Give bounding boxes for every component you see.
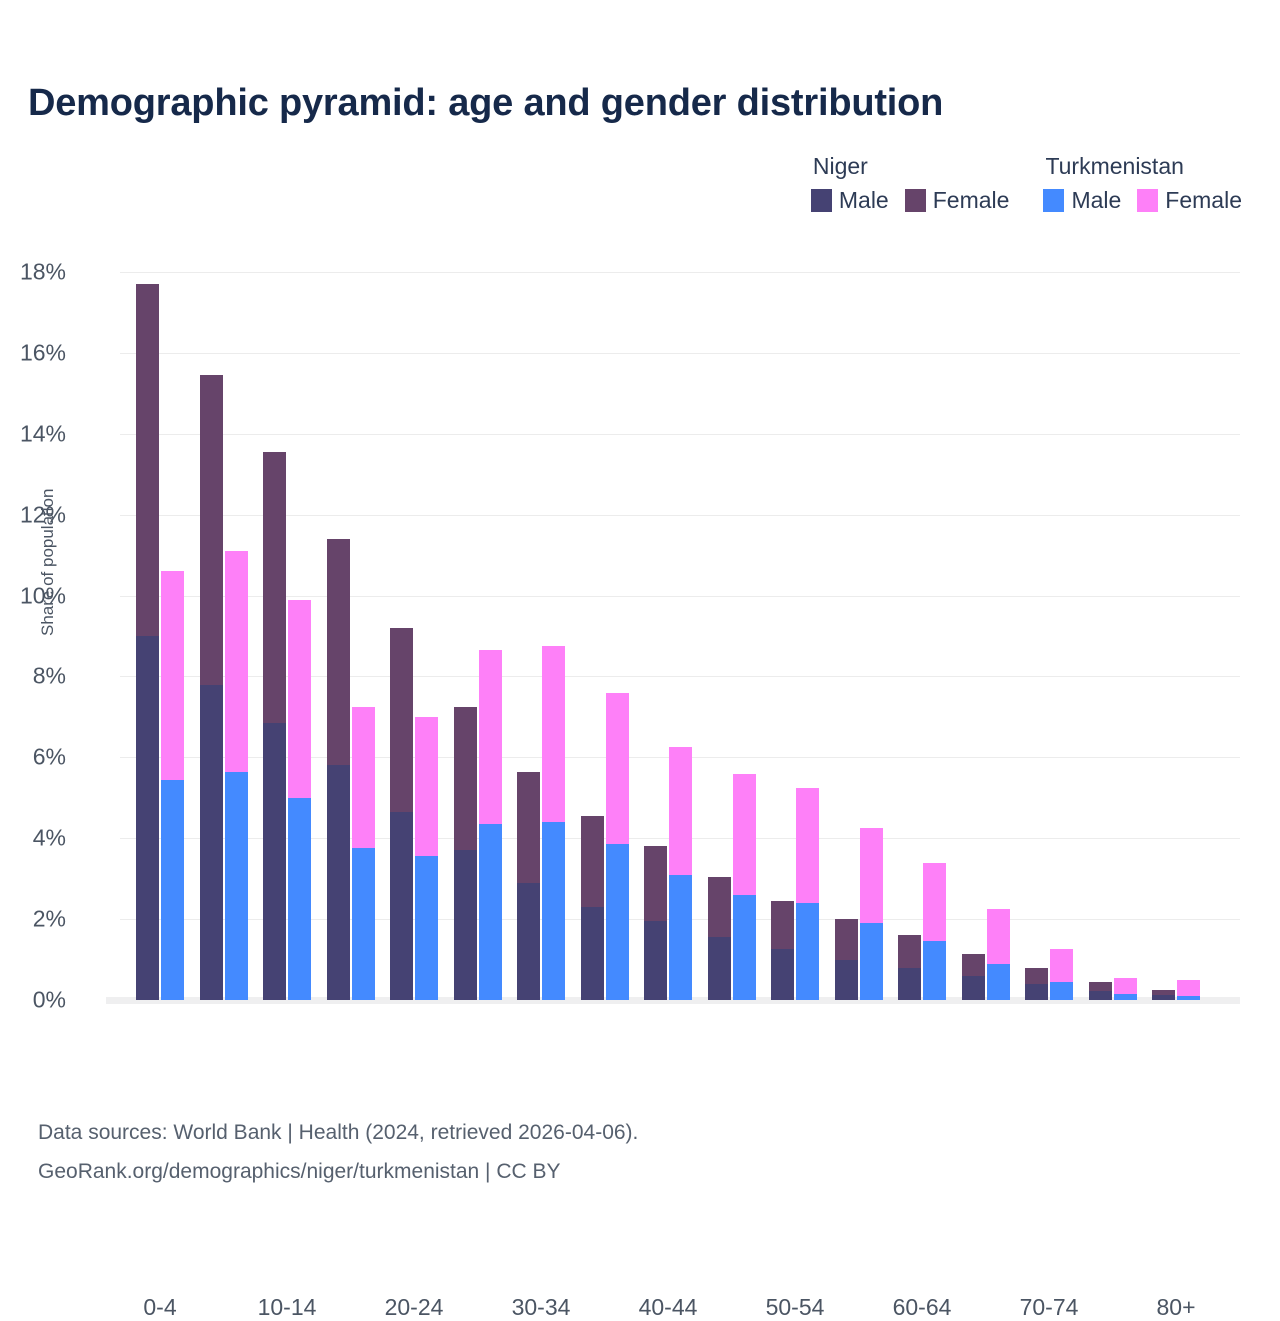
bar-segment-niger-female[interactable] bbox=[581, 816, 604, 907]
footer-data-sources: Data sources: World Bank | Health (2024,… bbox=[38, 1113, 638, 1152]
y-tick-label: 16% bbox=[0, 339, 66, 366]
y-tick-label: 0% bbox=[0, 987, 66, 1014]
bar-group bbox=[835, 272, 883, 1000]
bar-turkm-40-44[interactable] bbox=[669, 747, 692, 1000]
bar-segment-turkmenistan-female[interactable] bbox=[225, 551, 248, 771]
bar-segment-turkmenistan-female[interactable] bbox=[1050, 949, 1073, 981]
bar-segment-niger-male[interactable] bbox=[835, 960, 858, 1000]
bar-segment-turkmenistan-female[interactable] bbox=[796, 788, 819, 903]
x-tick-label-30-34: 30-34 bbox=[512, 1294, 571, 1321]
bar-segment-niger-male[interactable] bbox=[581, 907, 604, 1000]
bar-segment-niger-male[interactable] bbox=[962, 976, 985, 1000]
bar-niger-60-64[interactable] bbox=[898, 935, 921, 1000]
bar-niger-75-79[interactable] bbox=[1089, 982, 1112, 1000]
bar-segment-turkmenistan-male[interactable] bbox=[479, 824, 502, 1000]
legend-item-niger-male[interactable]: Male bbox=[811, 189, 889, 212]
bar-segment-turkmenistan-female[interactable] bbox=[479, 650, 502, 824]
bar-group bbox=[708, 272, 756, 1000]
bar-segment-niger-female[interactable] bbox=[517, 772, 540, 883]
bar-segment-turkmenistan-male[interactable] bbox=[1177, 996, 1200, 1000]
bar-segment-turkmenistan-female[interactable] bbox=[669, 747, 692, 874]
bar-niger-5-9[interactable] bbox=[200, 375, 223, 1000]
bar-segment-niger-male[interactable] bbox=[644, 921, 667, 1000]
bar-turkm-20-24[interactable] bbox=[415, 717, 438, 1000]
bar-segment-niger-female[interactable] bbox=[200, 375, 223, 684]
legend-label-niger-female: Female bbox=[933, 189, 1010, 212]
bar-turkm-25-29[interactable] bbox=[479, 650, 502, 1000]
legend-swatch-turkmenistan-male bbox=[1043, 189, 1064, 212]
bar-turkm-75-79[interactable] bbox=[1114, 978, 1137, 1000]
bar-segment-turkmenistan-female[interactable] bbox=[352, 707, 375, 849]
bar-turkm-50-54[interactable] bbox=[796, 788, 819, 1000]
legend-swatch-niger-male bbox=[811, 189, 832, 212]
bar-segment-niger-male[interactable] bbox=[708, 937, 731, 1000]
bar-niger-65-69[interactable] bbox=[962, 954, 985, 1001]
bar-turkm-15-19[interactable] bbox=[352, 707, 375, 1000]
bar-segment-turkmenistan-female[interactable] bbox=[288, 600, 311, 798]
bar-segment-turkmenistan-male[interactable] bbox=[542, 822, 565, 1000]
bar-segment-niger-female[interactable] bbox=[136, 284, 159, 636]
legend-item-niger-female[interactable]: Female bbox=[905, 189, 1010, 212]
bar-segment-turkmenistan-male[interactable] bbox=[987, 964, 1010, 1000]
chart-title: Demographic pyramid: age and gender dist… bbox=[28, 82, 943, 125]
bar-niger-45-49[interactable] bbox=[708, 877, 731, 1000]
bar-segment-niger-female[interactable] bbox=[327, 539, 350, 765]
bar-segment-turkmenistan-male[interactable] bbox=[161, 780, 184, 1000]
legend-label-niger-male: Male bbox=[839, 189, 889, 212]
bar-niger-25-29[interactable] bbox=[454, 707, 477, 1000]
bar-group bbox=[644, 272, 692, 1000]
bar-group bbox=[1089, 272, 1137, 1000]
bar-segment-turkmenistan-male[interactable] bbox=[923, 941, 946, 1000]
legend-label-turkmenistan-female: Female bbox=[1165, 189, 1242, 212]
bar-group bbox=[898, 272, 946, 1000]
y-tick-label: 14% bbox=[0, 420, 66, 447]
x-tick-label-20-24: 20-24 bbox=[385, 1294, 444, 1321]
bar-segment-turkmenistan-female[interactable] bbox=[860, 828, 883, 923]
bar-segment-niger-male[interactable] bbox=[200, 685, 223, 1000]
bar-group bbox=[962, 272, 1010, 1000]
bar-segment-niger-female[interactable] bbox=[962, 954, 985, 976]
bar-turkm-55-59[interactable] bbox=[860, 828, 883, 1000]
bar-niger-10-14[interactable] bbox=[263, 452, 286, 1000]
bar-group bbox=[390, 272, 438, 1000]
bar-niger-80+[interactable] bbox=[1152, 990, 1175, 1000]
bar-group bbox=[136, 272, 184, 1000]
bar-turkm-65-69[interactable] bbox=[987, 909, 1010, 1000]
x-tick-label-60-64: 60-64 bbox=[893, 1294, 952, 1321]
bar-turkm-45-49[interactable] bbox=[733, 774, 756, 1000]
bar-segment-niger-male[interactable] bbox=[517, 883, 540, 1000]
bar-segment-turkmenistan-male[interactable] bbox=[225, 772, 248, 1001]
y-tick-label: 2% bbox=[0, 906, 66, 933]
bar-turkm-10-14[interactable] bbox=[288, 600, 311, 1000]
bar-segment-niger-female[interactable] bbox=[263, 452, 286, 723]
bar-turkm-80+[interactable] bbox=[1177, 980, 1200, 1000]
bar-niger-35-39[interactable] bbox=[581, 816, 604, 1000]
bar-turkm-35-39[interactable] bbox=[606, 693, 629, 1000]
chart-container: Demographic pyramid: age and gender dist… bbox=[0, 0, 1280, 1280]
legend-item-turkmenistan-male[interactable]: Male bbox=[1043, 189, 1121, 212]
bar-group bbox=[327, 272, 375, 1000]
bar-group bbox=[517, 272, 565, 1000]
bar-segment-niger-male[interactable] bbox=[1152, 995, 1175, 1000]
bar-segment-niger-female[interactable] bbox=[390, 628, 413, 812]
bar-segment-turkmenistan-female[interactable] bbox=[987, 909, 1010, 964]
bar-segment-turkmenistan-female[interactable] bbox=[1177, 980, 1200, 996]
bar-niger-0-4[interactable] bbox=[136, 284, 159, 1000]
bar-segment-turkmenistan-female[interactable] bbox=[542, 646, 565, 822]
bar-niger-15-19[interactable] bbox=[327, 539, 350, 1000]
bar-segment-turkmenistan-female[interactable] bbox=[606, 693, 629, 845]
bar-group bbox=[771, 272, 819, 1000]
plot-area: 0%2%4%6%8%10%12%14%16%18%0-410-1420-2430… bbox=[120, 272, 1240, 1000]
legend-swatch-turkmenistan-female bbox=[1137, 189, 1158, 212]
bar-segment-niger-male[interactable] bbox=[1089, 991, 1112, 1000]
legend-group-title-niger: Niger bbox=[811, 155, 868, 178]
bar-segment-niger-male[interactable] bbox=[327, 765, 350, 1000]
legend-label-turkmenistan-male: Male bbox=[1071, 189, 1121, 212]
bar-segment-niger-female[interactable] bbox=[454, 707, 477, 851]
bar-group bbox=[454, 272, 502, 1000]
bar-segment-niger-male[interactable] bbox=[454, 850, 477, 1000]
y-tick-label: 12% bbox=[0, 501, 66, 528]
bar-segment-turkmenistan-male[interactable] bbox=[860, 923, 883, 1000]
bar-niger-70-74[interactable] bbox=[1025, 968, 1048, 1000]
bar-segment-niger-male[interactable] bbox=[390, 812, 413, 1000]
bar-segment-niger-female[interactable] bbox=[1025, 968, 1048, 984]
bar-segment-turkmenistan-female[interactable] bbox=[1114, 978, 1137, 994]
bar-segment-niger-female[interactable] bbox=[1089, 982, 1112, 991]
bar-segment-turkmenistan-male[interactable] bbox=[1050, 982, 1073, 1000]
bar-segment-niger-male[interactable] bbox=[263, 723, 286, 1000]
bar-niger-40-44[interactable] bbox=[644, 846, 667, 1000]
bar-segment-turkmenistan-female[interactable] bbox=[923, 863, 946, 942]
bar-segment-turkmenistan-male[interactable] bbox=[288, 798, 311, 1000]
bar-segment-turkmenistan-male[interactable] bbox=[352, 848, 375, 1000]
bar-group bbox=[263, 272, 311, 1000]
bar-segment-turkmenistan-male[interactable] bbox=[415, 856, 438, 1000]
bar-niger-55-59[interactable] bbox=[835, 919, 858, 1000]
bar-niger-30-34[interactable] bbox=[517, 772, 540, 1001]
bar-turkm-30-34[interactable] bbox=[542, 646, 565, 1000]
bar-segment-turkmenistan-male[interactable] bbox=[1114, 994, 1137, 1000]
bar-group bbox=[1025, 272, 1073, 1000]
bar-segment-turkmenistan-female[interactable] bbox=[733, 774, 756, 895]
x-tick-label-40-44: 40-44 bbox=[639, 1294, 698, 1321]
bar-segment-niger-female[interactable] bbox=[644, 846, 667, 921]
bar-segment-niger-female[interactable] bbox=[898, 935, 921, 967]
x-tick-label-10-14: 10-14 bbox=[258, 1294, 317, 1321]
legend-swatch-niger-female bbox=[905, 189, 926, 212]
bar-turkm-0-4[interactable] bbox=[161, 571, 184, 1000]
bar-group bbox=[581, 272, 629, 1000]
y-tick-label: 10% bbox=[0, 582, 66, 609]
footer-attribution: GeoRank.org/demographics/niger/turkmenis… bbox=[38, 1152, 638, 1191]
bar-segment-turkmenistan-male[interactable] bbox=[733, 895, 756, 1000]
bar-group bbox=[1152, 272, 1200, 1000]
chart-footer: Data sources: World Bank | Health (2024,… bbox=[38, 1113, 638, 1191]
legend-group-niger: Niger Male Female bbox=[811, 155, 1010, 212]
bar-segment-turkmenistan-male[interactable] bbox=[606, 844, 629, 1000]
bar-segment-turkmenistan-male[interactable] bbox=[669, 875, 692, 1000]
bar-segment-niger-female[interactable] bbox=[1152, 990, 1175, 995]
legend-group-title-turkmenistan: Turkmenistan bbox=[1043, 155, 1183, 178]
bar-segment-niger-male[interactable] bbox=[898, 968, 921, 1000]
bar-segment-niger-female[interactable] bbox=[771, 901, 794, 950]
bar-segment-turkmenistan-female[interactable] bbox=[415, 717, 438, 857]
bar-segment-turkmenistan-female[interactable] bbox=[161, 571, 184, 779]
y-tick-label: 8% bbox=[0, 663, 66, 690]
chart-legend: Niger Male Female Turkmenistan Male bbox=[811, 155, 1242, 212]
x-tick-label-80+: 80+ bbox=[1156, 1294, 1195, 1321]
bar-segment-niger-male[interactable] bbox=[1025, 984, 1048, 1000]
bar-turkm-70-74[interactable] bbox=[1050, 949, 1073, 1000]
bar-segment-niger-female[interactable] bbox=[708, 877, 731, 938]
bar-turkm-60-64[interactable] bbox=[923, 863, 946, 1001]
bar-segment-niger-male[interactable] bbox=[136, 636, 159, 1000]
y-tick-label: 4% bbox=[0, 825, 66, 852]
legend-group-turkmenistan: Turkmenistan Male Female bbox=[1043, 155, 1242, 212]
bar-segment-turkmenistan-male[interactable] bbox=[796, 903, 819, 1000]
x-tick-label-0-4: 0-4 bbox=[143, 1294, 176, 1321]
x-tick-label-70-74: 70-74 bbox=[1020, 1294, 1079, 1321]
bar-group bbox=[200, 272, 248, 1000]
bar-segment-niger-female[interactable] bbox=[835, 919, 858, 959]
y-tick-label: 18% bbox=[0, 259, 66, 286]
bar-niger-20-24[interactable] bbox=[390, 628, 413, 1000]
bar-niger-50-54[interactable] bbox=[771, 901, 794, 1000]
y-tick-label: 6% bbox=[0, 744, 66, 771]
legend-item-turkmenistan-female[interactable]: Female bbox=[1137, 189, 1242, 212]
x-tick-label-50-54: 50-54 bbox=[766, 1294, 825, 1321]
bar-segment-niger-male[interactable] bbox=[771, 949, 794, 1000]
bar-turkm-5-9[interactable] bbox=[225, 551, 248, 1000]
